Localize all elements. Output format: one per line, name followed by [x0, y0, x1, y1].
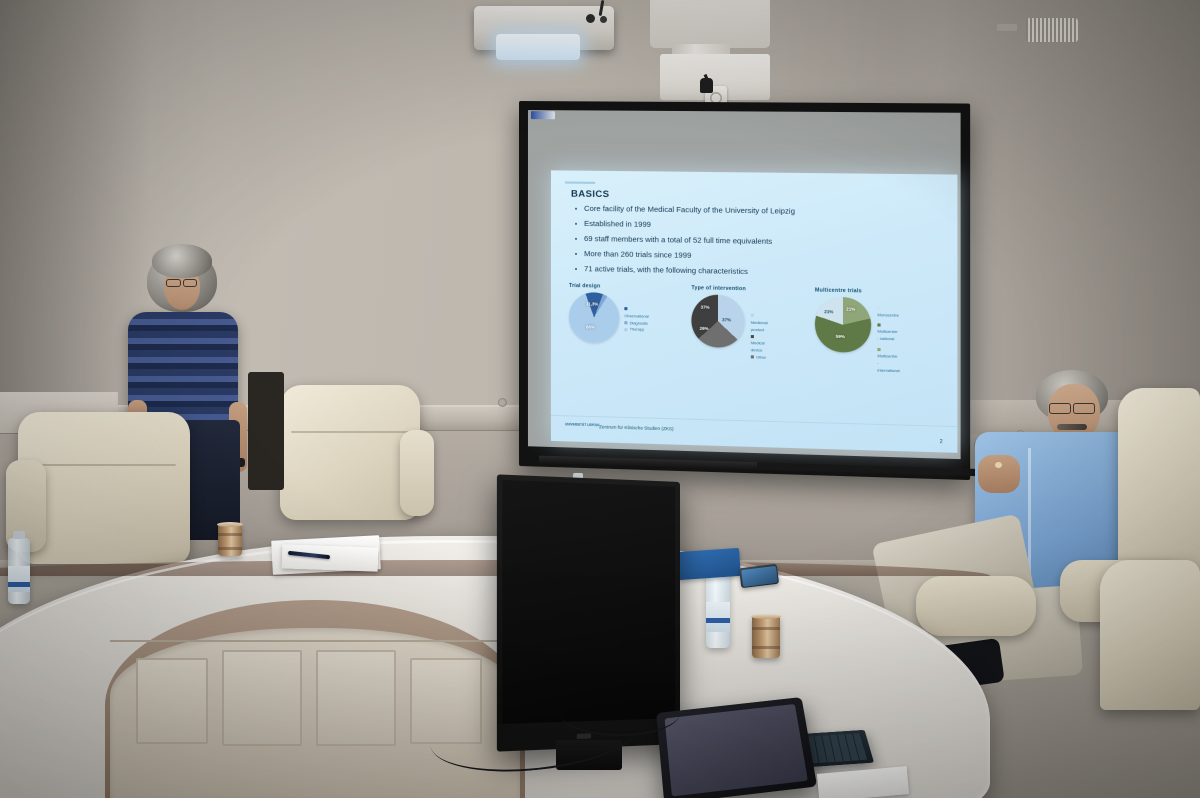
legend-item: Medical device [751, 333, 768, 354]
coffee-cup-center[interactable] [752, 616, 780, 658]
cup-band [218, 547, 242, 550]
legend-label: Medicinal product [751, 320, 768, 332]
legend-label: Multicentre - national [877, 329, 897, 341]
table-front-panel [110, 628, 520, 798]
panel-moulding [316, 650, 396, 746]
projector-knob-icon [586, 14, 595, 23]
pie-slice-label: 59% [836, 334, 845, 339]
tablet[interactable] [656, 697, 817, 798]
chart-legend: Medicinal product Medical device Other [751, 313, 768, 362]
slide-bullet: Established in 1999 [573, 220, 944, 234]
wall-shadow-right [940, 0, 1200, 430]
bottle-cap [13, 531, 24, 539]
water-bottle-left[interactable] [8, 538, 30, 604]
chair-armrest [400, 430, 434, 516]
pie-slice-label: 37% [722, 317, 731, 322]
phone-screen[interactable] [741, 565, 778, 586]
legend-label: Other [756, 354, 766, 359]
coffee-cup[interactable] [218, 524, 242, 556]
chair-seam [32, 464, 176, 466]
glasses-icon [183, 279, 197, 287]
slide-bullet: 71 active trials, with the following cha… [573, 265, 944, 280]
slide-title: BASICS [571, 189, 610, 201]
legend-swatch-icon [624, 321, 627, 324]
legend-swatch-icon [877, 306, 880, 309]
pie-slice-label: 26% [700, 326, 709, 331]
slide-accent-rule [565, 182, 595, 184]
chair-seam [291, 431, 409, 433]
chart-legend: Monocentre Multicentre - national Multic… [877, 305, 899, 375]
moustache-icon [1057, 424, 1087, 430]
whiteboard-label-icon [531, 111, 555, 119]
bottle-label [706, 602, 730, 632]
legend-swatch-icon [751, 314, 754, 317]
legend-label: Observational [624, 313, 648, 319]
pie-slice-label: 37% [701, 305, 710, 310]
cup-band [752, 627, 780, 630]
legend-swatch-icon [751, 356, 754, 359]
chair-shadow [248, 372, 284, 490]
bottle-brand-band [8, 582, 30, 587]
pie-slice-label: 86% [586, 324, 595, 329]
pie-chart: 37% 26% 37% [691, 294, 744, 348]
pie-chart: 11,3% 86% [569, 292, 619, 343]
legend-item: Other [751, 354, 768, 361]
legend-swatch-icon [624, 328, 627, 331]
glasses-icon [1049, 403, 1071, 414]
chart-title: Trial design [569, 283, 619, 290]
legend-label: Multicentre - international [877, 353, 899, 373]
university-logo: UNIVERSITÄT LEIPZIG [565, 422, 600, 427]
monitor-screen[interactable] [502, 480, 675, 724]
pie-slice-label: 11,3% [586, 301, 598, 306]
chair-armrest [916, 576, 1036, 636]
legend-item: Medicinal product [751, 313, 768, 334]
slide-footer-text: Zentrum für Klinische Studien (ZKS) [599, 424, 673, 431]
legend-swatch-icon [877, 348, 880, 351]
slide-page-number: 2 [940, 439, 943, 445]
legend-label: Monocentre [877, 312, 899, 318]
glasses-icon [166, 279, 181, 287]
slide-bullet: Core facility of the Medical Faculty of … [573, 205, 944, 218]
bottle-brand-band [706, 618, 730, 623]
blue-folder[interactable] [677, 548, 741, 580]
legend-item: Multicentre - international [877, 346, 899, 375]
chart-type-of-intervention: Type of intervention 37% 26% 37% Medicin… [691, 285, 745, 348]
legend-swatch-icon [751, 335, 754, 338]
panel-line [110, 640, 520, 642]
slide-bullet: More than 260 trials since 1999 [573, 250, 944, 265]
legend-label: Medical device [751, 340, 765, 352]
conference-room-scene: BASICS Core facility of the Medical Facu… [0, 0, 1200, 798]
cup-rim [217, 522, 243, 527]
chart-title: Multicentre trials [815, 287, 871, 294]
wall-socket-icon [498, 398, 507, 407]
papers-second-sheet[interactable] [282, 544, 379, 571]
projected-slide: BASICS Core facility of the Medical Facu… [551, 170, 957, 453]
presenter-hair-top [152, 244, 212, 278]
slide-footer: UNIVERSITÄT LEIPZIG Zentrum für Klinisch… [551, 415, 957, 453]
slide-bullet-list: Core facility of the Medical Faculty of … [573, 205, 944, 287]
cable [560, 690, 680, 736]
whiteboard-frame-bottom [757, 462, 982, 476]
slide-bullet: 69 staff members with a total of 52 full… [573, 235, 944, 249]
chart-legend: Observational Diagnostic Therapy [624, 306, 648, 334]
pie-slice-label: 21% [846, 306, 855, 311]
legend-swatch-icon [877, 324, 880, 327]
legend-item: Therapy [624, 327, 648, 334]
projector-vent-icon [1026, 18, 1078, 42]
pie-slice-label: 21% [824, 309, 833, 314]
glasses-icon [1073, 403, 1095, 414]
attendee-hands [978, 455, 1020, 493]
slide-charts: Trial design 11,3% 86% Observational Dia… [565, 283, 956, 404]
chart-title: Type of intervention [691, 285, 745, 292]
tablet-screen[interactable] [665, 704, 808, 797]
legend-item: Multicentre - national [877, 322, 899, 343]
cup-band [218, 533, 242, 536]
chart-trial-design: Trial design 11,3% 86% Observational Dia… [569, 283, 619, 343]
cup-rim [751, 614, 781, 619]
panel-moulding [222, 650, 302, 746]
legend-item: Monocentre [877, 305, 899, 319]
whiteboard-surface[interactable]: BASICS Core facility of the Medical Facu… [528, 110, 961, 459]
ring-icon [995, 462, 1002, 468]
cup-band [752, 646, 780, 649]
projector-knob-icon [600, 16, 607, 23]
pie-chart: 21% 21% 59% [815, 297, 871, 353]
shirt-placket [1028, 448, 1031, 578]
projector-lens-icon [496, 34, 580, 60]
projector-ceiling-arm [650, 0, 770, 48]
legend-swatch-icon [624, 308, 627, 311]
chart-multicentre-trials: Multicentre trials 21% 21% 59% Monocentr… [815, 287, 871, 353]
legend-label: Therapy [630, 327, 644, 332]
interactive-whiteboard[interactable]: BASICS Core facility of the Medical Facu… [519, 101, 970, 480]
projector-port-icon [997, 24, 1017, 31]
legend-item: Observational [624, 306, 648, 320]
legend-label: Diagnostic [630, 320, 648, 325]
panel-moulding [136, 658, 208, 744]
bottle-label [8, 566, 30, 592]
